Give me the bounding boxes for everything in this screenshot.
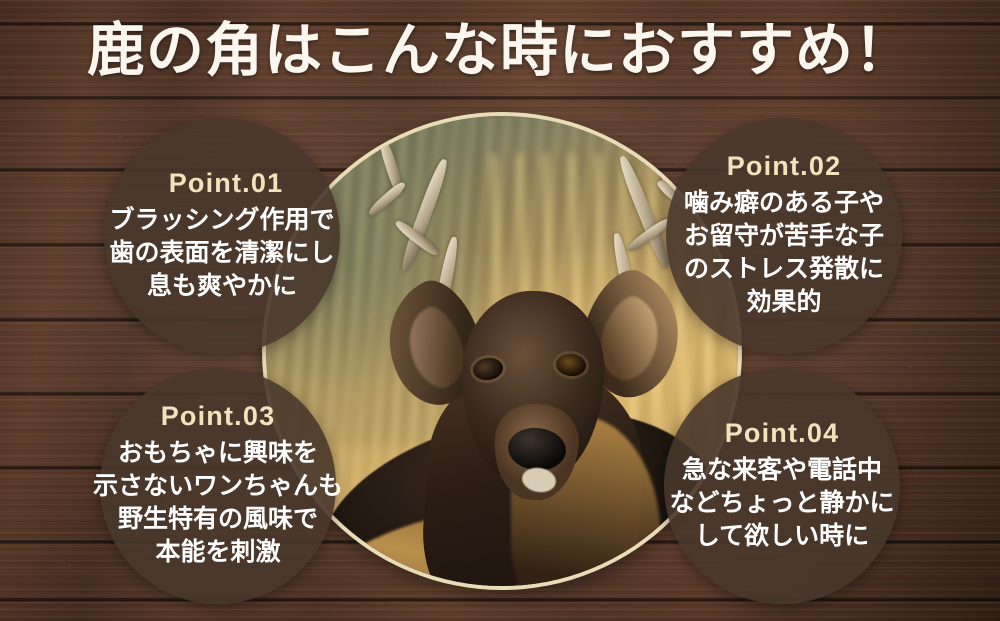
point-04-body: 急な来客や電話中 などちょっと静かに して欲しい時に (669, 454, 894, 553)
point-02-line-1: 噛み癖のある子や (684, 187, 884, 220)
point-02-line-4: 効果的 (684, 286, 884, 319)
point-01-label: Point.01 (169, 170, 284, 197)
page-title: 鹿の角はこんな時におすすめ！ (0, 18, 1000, 85)
point-02-label: Point.02 (727, 153, 842, 180)
point-circle-03: Point.03 おもちゃに興味を 示さないワンちゃんも 野生特有の風味で 本能… (100, 368, 336, 604)
point-circle-04: Point.04 急な来客や電話中 などちょっと静かに して欲しい時に (664, 368, 900, 604)
point-04-line-2: などちょっと静かに (669, 487, 894, 520)
point-02-line-2: お留守が苦手な子 (684, 220, 884, 253)
point-03-label: Point.03 (161, 403, 276, 430)
point-04-line-1: 急な来客や電話中 (669, 454, 894, 487)
point-03-line-4: 本能を刺激 (93, 536, 343, 569)
point-03-line-3: 野生特有の風味で (93, 503, 343, 536)
point-circle-02: Point.02 噛み癖のある子や お留守が苦手な子 のストレス発散に 効果的 (666, 118, 902, 354)
point-01-line-3: 息も爽やかに (109, 270, 334, 303)
point-03-body: おもちゃに興味を 示さないワンちゃんも 野生特有の風味で 本能を刺激 (93, 437, 343, 569)
point-01-body: ブラッシング作用で 歯の表面を清潔にし 息も爽やかに (109, 204, 334, 303)
promo-banner: 鹿の角はこんな時におすすめ！ (0, 0, 1000, 621)
point-02-body: 噛み癖のある子や お留守が苦手な子 のストレス発散に 効果的 (684, 187, 884, 319)
point-02-line-3: のストレス発散に (684, 253, 884, 286)
point-01-line-2: 歯の表面を清潔にし (109, 237, 334, 270)
point-03-line-2: 示さないワンちゃんも (93, 470, 343, 503)
point-04-label: Point.04 (725, 420, 840, 447)
point-04-line-3: して欲しい時に (669, 520, 894, 553)
point-03-line-1: おもちゃに興味を (93, 437, 343, 470)
point-01-line-1: ブラッシング作用で (109, 204, 334, 237)
point-circle-01: Point.01 ブラッシング作用で 歯の表面を清潔にし 息も爽やかに (104, 118, 340, 354)
